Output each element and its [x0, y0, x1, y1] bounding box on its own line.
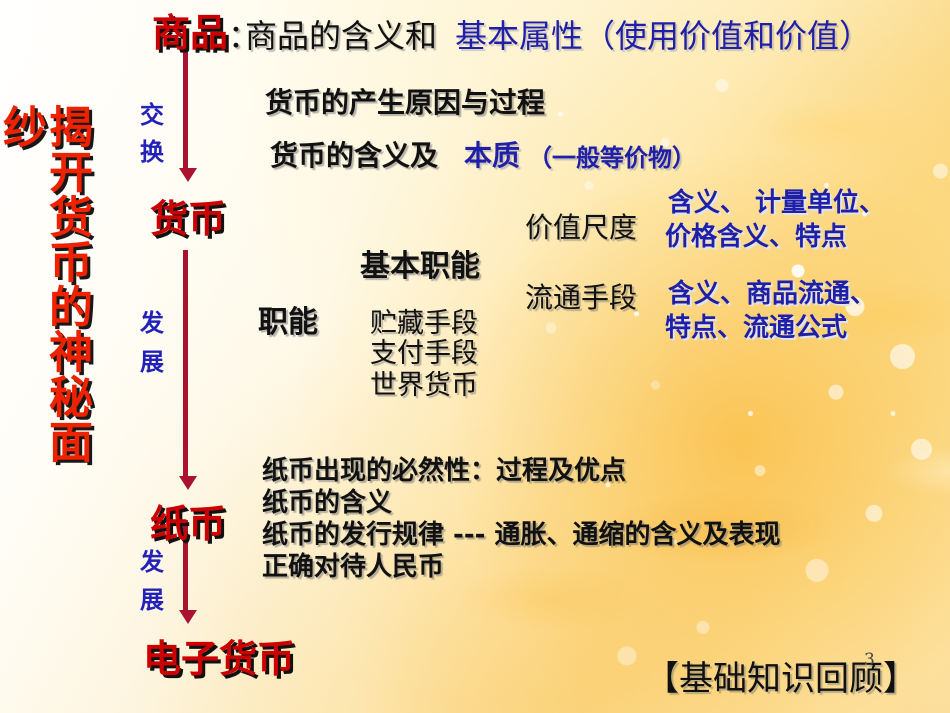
money-other-function-2: 支付手段	[370, 340, 478, 367]
spine-arrow-commodity-to-money	[183, 60, 188, 170]
money-functions-label: 职能	[258, 308, 318, 338]
slide-canvas: 纱 揭开货币的神秘面 交 换 发 展 发 展 商品 ： 商品的含义和 基本属性（…	[0, 0, 950, 713]
footer-label: 【基础知识回顾】	[645, 662, 917, 696]
spine-arrow-head-2	[179, 476, 197, 490]
paper-money-line-2: 纸币的含义	[262, 490, 392, 516]
connector-label-develop1-bottom: 展	[140, 350, 164, 374]
basic-function-detail-1-line2: 价格含义、特点	[665, 224, 847, 250]
commodity-body-black: 商品的含义和	[245, 20, 437, 52]
paper-money-line-3: 纸币的发行规律 --- 通胀、通缩的含义及表现	[262, 522, 780, 548]
connector-label-develop2-top: 发	[140, 550, 164, 574]
connector-label-develop2-bottom: 展	[140, 588, 164, 612]
basic-function-detail-2-line2: 特点、流通公式	[665, 315, 847, 341]
basic-function-name-2: 流通手段	[525, 284, 637, 312]
node-heading-paper-money: 纸币	[150, 505, 226, 543]
connector-label-exchange-bottom: 换	[140, 140, 164, 164]
money-line2-blue-parenthetical: （一般等价物）	[528, 146, 696, 170]
money-basic-functions-label: 基本职能	[360, 252, 480, 282]
paper-money-line-4: 正确对待人民币	[262, 554, 444, 580]
spine-arrow-head-1	[179, 168, 197, 182]
vertical-title-column-left: 纱	[0, 104, 42, 164]
basic-function-detail-1-line1: 含义、 计量单位、	[668, 190, 885, 216]
spine-arrow-head-3	[179, 610, 197, 624]
paper-money-line-1: 纸币出现的必然性：过程及优点	[262, 458, 626, 484]
basic-function-name-1: 价值尺度	[525, 214, 637, 242]
basic-function-detail-2-line1: 含义、商品流通、	[668, 281, 876, 307]
slide-number: 3	[864, 652, 875, 669]
node-heading-commodity: 商品	[152, 14, 228, 52]
node-heading-money: 货币	[150, 200, 226, 238]
spine-arrow-money-to-paper	[183, 250, 188, 478]
money-line2-blue: 本质	[464, 142, 520, 170]
money-line2-black: 货币的含义及	[270, 142, 438, 170]
commodity-body-blue: 基本属性（使用价值和价值）	[455, 20, 871, 52]
money-line1: 货币的产生原因与过程	[265, 89, 545, 117]
connector-label-develop1-top: 发	[140, 311, 164, 335]
money-other-function-1: 贮藏手段	[370, 310, 478, 337]
vertical-title-column-right: 揭开货币的神秘面	[44, 104, 88, 524]
connector-label-exchange-top: 交	[140, 103, 164, 127]
node-heading-electronic-money: 电子货币	[143, 640, 295, 678]
money-other-function-3: 世界货币	[370, 372, 478, 399]
